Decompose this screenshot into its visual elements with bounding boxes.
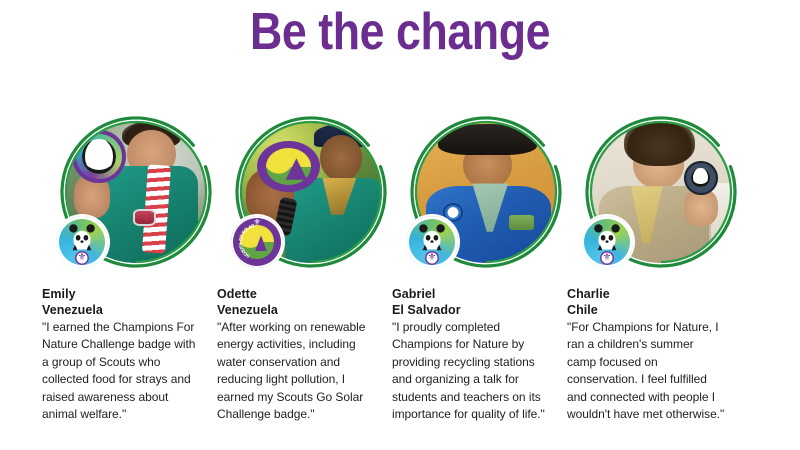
- wwf-panda-badge-icon: ⚜: [581, 216, 633, 268]
- panda-glyph-icon: [591, 222, 622, 251]
- portrait: ⚜ S C O U T S G O S O L A: [231, 112, 391, 272]
- testimonial-card: ⚜ Charlie Chile "For Champions for Natur…: [565, 112, 740, 447]
- person-country: Chile: [567, 302, 733, 318]
- person-quote: "I earned the Champions For Nature Chall…: [42, 319, 200, 423]
- testimonial-page: Be the change: [0, 0, 800, 450]
- held-solar-badge-icon: [257, 141, 319, 192]
- panda-glyph-icon: [66, 222, 97, 251]
- page-title: Be the change: [56, 2, 744, 62]
- person-quote: "I proudly completed Champions for Natur…: [392, 319, 550, 423]
- person-name: Emily: [42, 286, 208, 302]
- person-country: El Salvador: [392, 302, 558, 318]
- person-name: Charlie: [567, 286, 733, 302]
- testimonial-info: Emily Venezuela "I earned the Champions …: [40, 286, 208, 423]
- testimonial-cards-row: ⚜ Emily Venezuela "I earned the Champion…: [40, 112, 760, 447]
- portrait: ⚜: [406, 112, 566, 272]
- testimonial-info: Odette Venezuela "After working on renew…: [215, 286, 383, 423]
- wwf-panda-badge-icon: ⚜: [56, 216, 108, 268]
- testimonial-card: ⚜ Emily Venezuela "I earned the Champion…: [40, 112, 215, 447]
- person-quote: "After working on renewable energy activ…: [217, 319, 375, 423]
- badge-ring-text: S C O U T S G O S O L A R: [231, 216, 283, 268]
- portrait: ⚜: [56, 112, 216, 272]
- testimonial-info: Charlie Chile "For Champions for Nature,…: [565, 286, 733, 423]
- held-panda-badge-icon: [684, 161, 718, 195]
- scout-fleur-icon: ⚜: [600, 251, 614, 265]
- testimonial-info: Gabriel El Salvador "I proudly completed…: [390, 286, 558, 423]
- person-name: Gabriel: [392, 286, 558, 302]
- person-name: Odette: [217, 286, 383, 302]
- scouts-go-solar-badge-icon: ⚜ S C O U T S G O S O L A: [231, 216, 283, 268]
- held-panda-badge-icon: [72, 130, 126, 184]
- panda-glyph-icon: [416, 222, 447, 251]
- person-country: Venezuela: [217, 302, 383, 318]
- person-quote: "For Champions for Nature, I ran a child…: [567, 319, 725, 423]
- testimonial-card: ⚜ S C O U T S G O S O L A: [215, 112, 390, 447]
- scout-fleur-icon: ⚜: [75, 251, 89, 265]
- wwf-panda-badge-icon: ⚜: [406, 216, 458, 268]
- person-country: Venezuela: [42, 302, 208, 318]
- portrait: ⚜: [581, 112, 741, 272]
- scout-fleur-icon: ⚜: [425, 251, 439, 265]
- testimonial-card: ⚜ Gabriel El Salvador "I proudly complet…: [390, 112, 565, 447]
